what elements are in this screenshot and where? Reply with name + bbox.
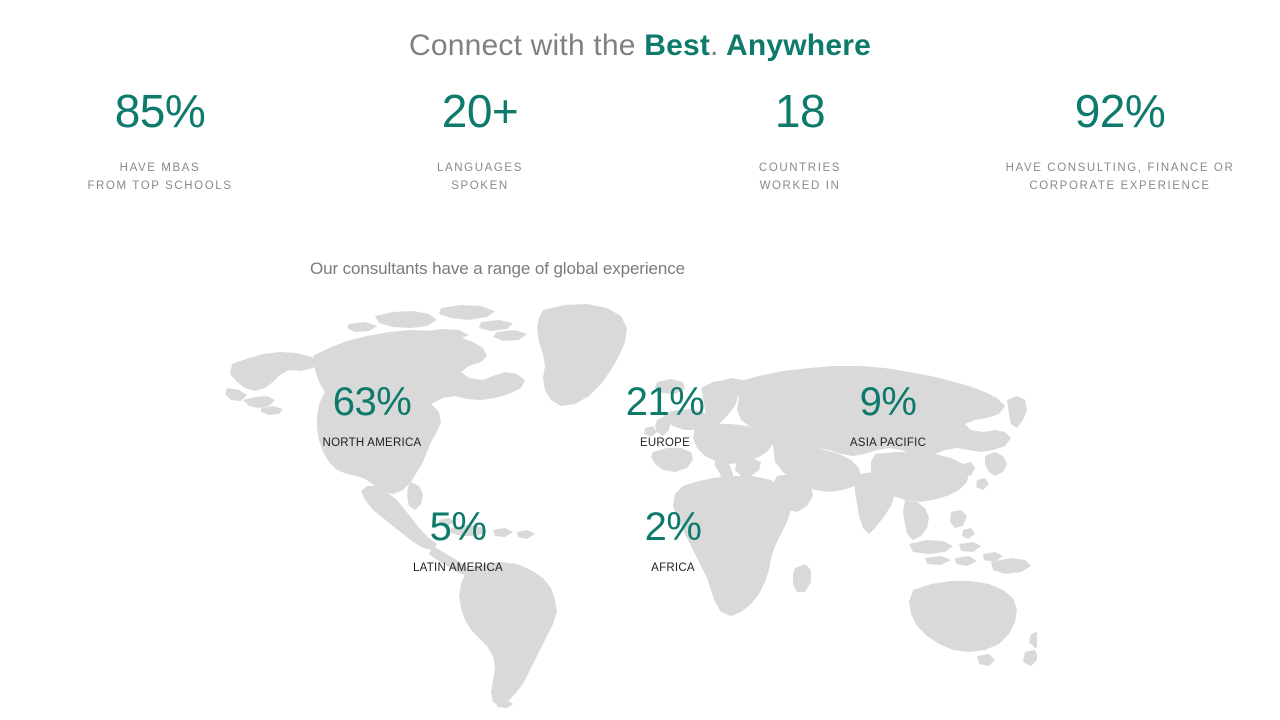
stat-languages-label: LANGUAGES SPOKEN [330,159,630,195]
stat-experience-value: 92% [970,88,1270,134]
region-europe: 21% EUROPE [626,382,705,449]
stat-countries: 18 COUNTRIES WORKED IN [640,88,960,195]
region-asia-pacific-label: ASIA PACIFIC [850,437,926,449]
stat-countries-label: COUNTRIES WORKED IN [650,159,950,195]
stat-mbas: 85% HAVE MBAS FROM TOP SCHOOLS [0,88,320,195]
region-latin-america: 5% LATIN AMERICA [413,507,503,574]
region-latin-america-label: LATIN AMERICA [413,562,503,574]
stat-countries-value: 18 [650,88,950,134]
region-north-america: 63% NORTH AMERICA [323,382,422,449]
stat-languages: 20+ LANGUAGES SPOKEN [320,88,640,195]
page-title-lead: Connect with the [409,29,644,62]
region-asia-pacific: 9% ASIA PACIFIC [850,382,926,449]
stats-row: 85% HAVE MBAS FROM TOP SCHOOLS 20+ LANGU… [0,88,1280,195]
page-title-accent-best: Best [644,29,710,62]
region-africa: 2% AFRICA [645,507,702,574]
stat-mbas-value: 85% [10,88,310,134]
region-africa-label: AFRICA [645,562,702,574]
stat-experience: 92% HAVE CONSULTING, FINANCE OR CORPORAT… [960,88,1280,195]
world-map-svg [225,296,1037,708]
region-africa-value: 2% [645,507,702,547]
stat-experience-label: HAVE CONSULTING, FINANCE OR CORPORATE EX… [970,159,1270,195]
region-europe-label: EUROPE [626,437,705,449]
region-europe-value: 21% [626,382,705,422]
region-north-america-label: NORTH AMERICA [323,437,422,449]
region-latin-america-value: 5% [413,507,503,547]
region-asia-pacific-value: 9% [850,382,926,422]
section-subtitle: Our consultants have a range of global e… [310,259,685,279]
page-title-accent-anywhere: Anywhere [719,29,871,62]
stat-languages-value: 20+ [330,88,630,134]
world-map-landmass [225,304,1037,708]
stat-mbas-label: HAVE MBAS FROM TOP SCHOOLS [10,159,310,195]
page-title-separator: . [710,29,719,62]
region-north-america-value: 63% [323,382,422,422]
world-map [225,296,1037,708]
page-title: Connect with the Best. Anywhere [0,29,1280,63]
